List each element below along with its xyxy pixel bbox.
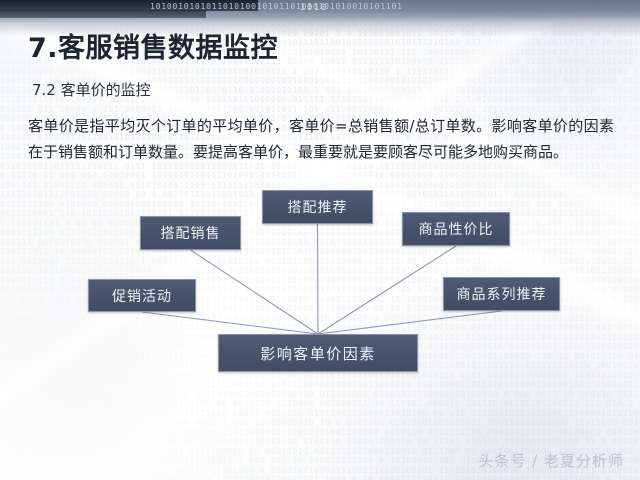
diagram-connector-lines [0,0,640,480]
diagram-node-factor-0-label: 搭配销售 [161,223,221,243]
diagram-node-factor-3-label: 促销活动 [112,286,172,306]
diagram-node-central-label: 影响客单价因素 [260,343,376,364]
watermark-credit: 头条号 / 老夏分析师 [478,450,624,471]
diagram-node-factor-2: 商品性价比 [402,212,510,246]
diagram-node-factor-4: 商品系列推荐 [443,277,560,311]
connector-line-4 [318,311,502,334]
slide-canvas: 11 11 0 01001110 00111000110101100100101… [0,0,640,480]
connector-line-2 [318,246,456,334]
diagram-node-factor-1: 搭配推荐 [262,190,373,224]
factor-diagram: 搭配销售搭配推荐商品性价比促销活动商品系列推荐影响客单价因素 [0,0,640,480]
connector-line-3 [142,312,318,334]
diagram-node-factor-4-label: 商品系列推荐 [457,284,547,304]
connector-line-0 [191,250,319,334]
diagram-node-factor-2-label: 商品性价比 [419,219,494,239]
diagram-node-factor-0: 搭配销售 [140,216,241,250]
diagram-node-factor-3: 促销活动 [88,279,196,312]
connector-line-1 [318,224,319,334]
diagram-node-central: 影响客单价因素 [218,334,418,372]
diagram-node-factor-1-label: 搭配推荐 [288,197,348,217]
